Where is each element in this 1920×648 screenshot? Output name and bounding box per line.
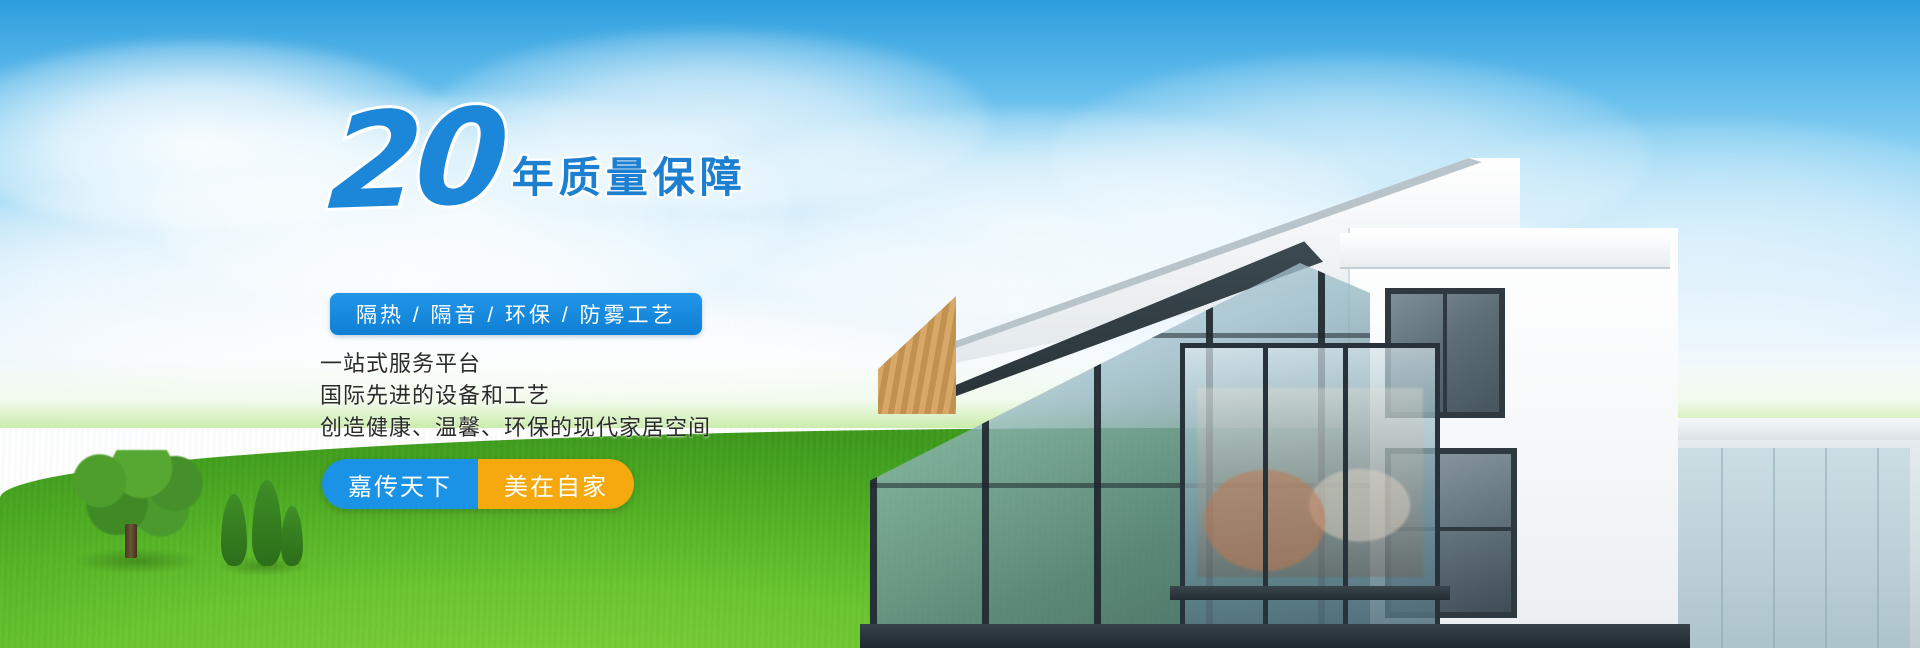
feature-tags-label: 隔热 / 隔音 / 环保 / 防雾工艺	[356, 299, 676, 329]
headline: 20 年质量保障	[330, 100, 747, 221]
description-line-1: 一站式服务平台	[320, 348, 711, 380]
slogan-button-accent[interactable]: 美在自家	[478, 459, 634, 509]
years-number: 20	[325, 97, 506, 224]
description-block: 一站式服务平台 国际先进的设备和工艺 创造健康、温馨、环保的现代家居空间	[320, 348, 711, 444]
feature-tags-pill: 隔热 / 隔音 / 环保 / 防雾工艺	[330, 293, 702, 335]
roof-fascia	[1340, 233, 1670, 269]
window-sill	[1170, 586, 1450, 600]
quality-guarantee-slogan: 年质量保障	[512, 144, 747, 205]
promo-banner: 20 年质量保障 隔热 / 隔音 / 环保 / 防雾工艺 一站式服务平台 国际先…	[0, 0, 1920, 648]
description-line-3: 创造健康、温馨、环保的现代家居空间	[320, 412, 711, 444]
interior-view	[1197, 388, 1423, 577]
glass-sunroom-house	[840, 88, 1920, 648]
slogan-button-group[interactable]: 嘉传天下 美在自家	[322, 459, 634, 509]
banner-text-content: 20 年质量保障 隔热 / 隔音 / 环保 / 防雾工艺 一站式服务平台 国际先…	[0, 0, 820, 648]
description-line-2: 国际先进的设备和工艺	[320, 380, 711, 412]
building-base	[860, 624, 1690, 648]
slogan-button-primary[interactable]: 嘉传天下	[322, 459, 478, 509]
wood-gable-panel	[878, 296, 956, 414]
